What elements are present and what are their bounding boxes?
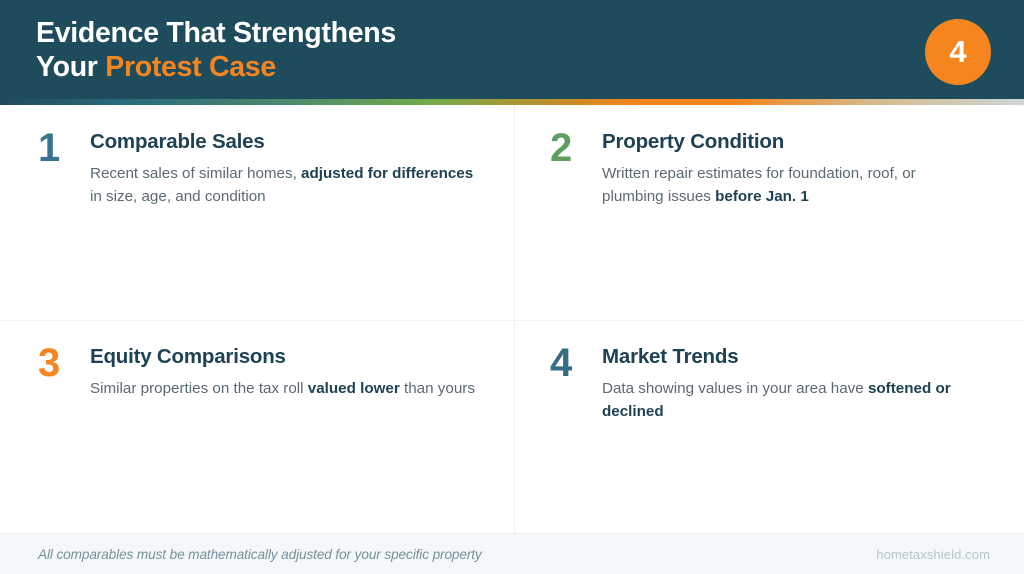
slide-footer: All comparables must be mathematically a… — [0, 533, 1024, 574]
evidence-item-1-description: Recent sales of similar homes, adjusted … — [90, 162, 480, 209]
evidence-item-3-number: 3 — [38, 344, 90, 383]
evidence-item-2: 2 Property Condition Written repair esti… — [514, 105, 1024, 320]
page-title: Evidence That Strengthens Your Protest C… — [36, 15, 396, 84]
evidence-item-1-body: Comparable Sales Recent sales of similar… — [90, 129, 480, 209]
content-area: 1 Comparable Sales Recent sales of simil… — [0, 105, 1024, 533]
title-line-1: Evidence That Strengthens — [36, 17, 396, 49]
evidence-item-2-description: Written repair estimates for foundation,… — [602, 162, 980, 209]
evidence-item-1-number: 1 — [38, 129, 90, 168]
slide-header: Evidence That Strengthens Your Protest C… — [0, 0, 1024, 99]
evidence-item-4: 4 Market Trends Data showing values in y… — [514, 320, 1024, 533]
evidence-item-1-title: Comparable Sales — [90, 130, 480, 155]
step-badge: 4 — [925, 19, 991, 85]
evidence-item-2-body: Property Condition Written repair estima… — [602, 129, 994, 209]
evidence-grid: 1 Comparable Sales Recent sales of simil… — [0, 105, 1024, 533]
evidence-item-3: 3 Equity Comparisons Similar properties … — [0, 320, 514, 533]
evidence-item-1: 1 Comparable Sales Recent sales of simil… — [0, 105, 514, 320]
evidence-item-2-title: Property Condition — [602, 130, 994, 155]
horizontal-divider — [0, 320, 1024, 321]
evidence-item-2-number: 2 — [550, 129, 602, 168]
vertical-divider — [514, 105, 515, 533]
evidence-item-4-body: Market Trends Data showing values in you… — [602, 344, 994, 424]
footer-url: hometaxshield.com — [876, 547, 990, 562]
evidence-item-3-description: Similar properties on the tax roll value… — [90, 377, 480, 401]
evidence-item-4-title: Market Trends — [602, 345, 994, 370]
evidence-item-3-body: Equity Comparisons Similar properties on… — [90, 344, 480, 400]
evidence-item-4-number: 4 — [550, 344, 602, 383]
title-line-2-accent: Protest Case — [105, 51, 276, 83]
footer-note: All comparables must be mathematically a… — [38, 547, 482, 562]
slide: Evidence That Strengthens Your Protest C… — [0, 0, 1024, 574]
step-badge-number: 4 — [949, 36, 966, 69]
title-line-2-plain: Your — [36, 51, 105, 83]
evidence-item-3-title: Equity Comparisons — [90, 345, 480, 370]
evidence-item-4-description: Data showing values in your area have so… — [602, 377, 980, 424]
